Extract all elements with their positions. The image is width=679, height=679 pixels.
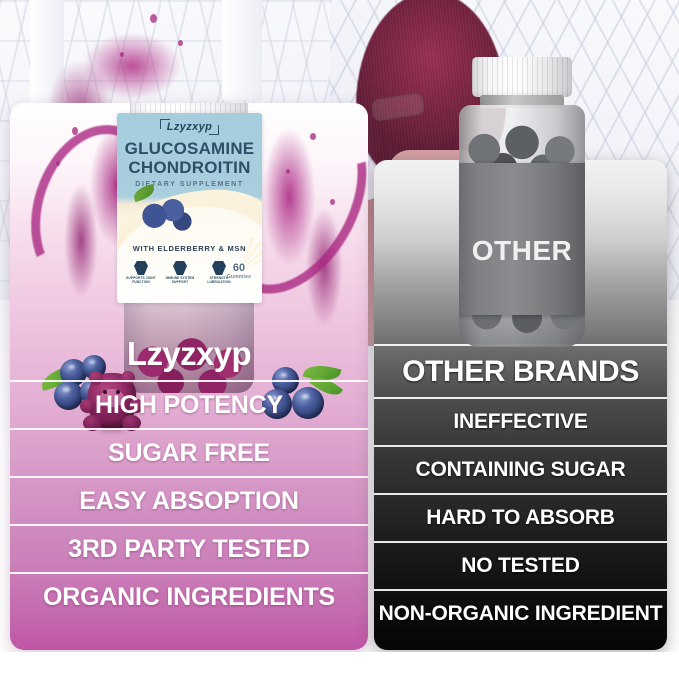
count-number: 60 bbox=[223, 263, 255, 274]
pillar-left bbox=[30, 0, 64, 120]
cap-ribs bbox=[472, 57, 572, 97]
product-feature-row-5: ORGANIC INGREDIENTS bbox=[10, 572, 368, 620]
other-brand-bottle: OTHER bbox=[451, 57, 596, 357]
bottle-with-text: WITH ELDERBERRY & MSN bbox=[117, 244, 262, 253]
benefit-label: SUPPORTS JOINT FUNCTION bbox=[126, 276, 157, 284]
juice-droplet bbox=[72, 127, 78, 135]
juice-droplet bbox=[330, 199, 335, 205]
product-feature-label: SUGAR FREE bbox=[108, 439, 270, 468]
bottle-product-line-1: GLUCOSAMINE bbox=[117, 139, 262, 159]
pillar-mid bbox=[222, 0, 262, 100]
bottle-brand: Lzyzxyp bbox=[117, 120, 262, 134]
other-feature-rows: OTHER BRANDS INEFFECTIVE CONTAINING SUGA… bbox=[374, 344, 667, 637]
juice-droplet bbox=[286, 169, 290, 174]
benefit-item-immune: IMMUNE SYSTEM SUPPORT bbox=[164, 261, 196, 285]
product-comparison-left: Lzyzxyp GLUCOSAMINE CHONDROITIN DIETARY … bbox=[10, 103, 368, 650]
other-feature-label: INEFFECTIVE bbox=[453, 410, 587, 434]
bottle-count-badge: 60 Gummies bbox=[223, 263, 255, 293]
label-blueberries bbox=[137, 191, 195, 231]
bottom-white-strip bbox=[0, 652, 679, 679]
other-feature-label: NON-ORGANIC INGREDIENT bbox=[379, 602, 663, 626]
other-feature-row-2: CONTAINING SUGAR bbox=[374, 445, 667, 493]
product-feature-label: 3RD PARTY TESTED bbox=[68, 535, 310, 564]
bottle-brand-text: Lzyzxyp bbox=[160, 120, 220, 134]
joint-icon bbox=[134, 261, 148, 275]
bottle-body: OTHER bbox=[459, 105, 585, 347]
product-feature-label: HIGH POTENCY bbox=[95, 391, 283, 420]
benefit-item-joint: SUPPORTS JOINT FUNCTION bbox=[125, 261, 157, 285]
juice-droplet bbox=[310, 133, 316, 140]
juice-droplet bbox=[178, 40, 183, 46]
juice-droplet bbox=[150, 14, 157, 23]
bottle-label: Lzyzxyp GLUCOSAMINE CHONDROITIN DIETARY … bbox=[117, 113, 262, 303]
product-title: Lzyzxyp bbox=[127, 335, 251, 373]
other-feature-row-1: INEFFECTIVE bbox=[374, 397, 667, 445]
juice-droplet bbox=[56, 161, 60, 166]
product-feature-row-2: SUGAR FREE bbox=[10, 428, 368, 476]
bottle-label: OTHER bbox=[459, 163, 585, 315]
other-feature-row-3: HARD TO ABSORB bbox=[374, 493, 667, 541]
bottle-label-text: OTHER bbox=[459, 235, 585, 267]
other-feature-row-5: NON-ORGANIC INGREDIENT bbox=[374, 589, 667, 637]
juice-droplet bbox=[120, 52, 124, 57]
other-feature-row-4: NO TESTED bbox=[374, 541, 667, 589]
other-title: OTHER BRANDS bbox=[402, 355, 639, 389]
immune-icon bbox=[173, 261, 187, 275]
bottle-product-line-2: CHONDROITIN bbox=[117, 158, 262, 178]
bottle-benefit-icons: SUPPORTS JOINT FUNCTION IMMUNE SYSTEM SU… bbox=[125, 261, 235, 285]
product-feature-rows: Lzyzxyp HIGH POTENCY SUGAR FREE EASY ABS… bbox=[10, 327, 368, 620]
benefit-label: IMMUNE SYSTEM SUPPORT bbox=[165, 276, 196, 284]
product-feature-row-1: HIGH POTENCY bbox=[10, 380, 368, 428]
product-feature-label: EASY ABSOPTION bbox=[79, 487, 298, 516]
bottle-cap bbox=[472, 57, 572, 97]
product-feature-row-4: 3RD PARTY TESTED bbox=[10, 524, 368, 572]
count-label: Gummies bbox=[223, 274, 255, 280]
other-feature-label: CONTAINING SUGAR bbox=[416, 458, 626, 482]
other-feature-label: HARD TO ABSORB bbox=[426, 506, 615, 530]
bottle-subtitle: DIETARY SUPPLEMENT bbox=[117, 181, 262, 188]
product-feature-row-3: EASY ABSOPTION bbox=[10, 476, 368, 524]
other-feature-label: NO TESTED bbox=[461, 554, 579, 578]
product-feature-label: ORGANIC INGREDIENTS bbox=[43, 583, 335, 612]
product-title-row: Lzyzxyp bbox=[10, 327, 368, 380]
